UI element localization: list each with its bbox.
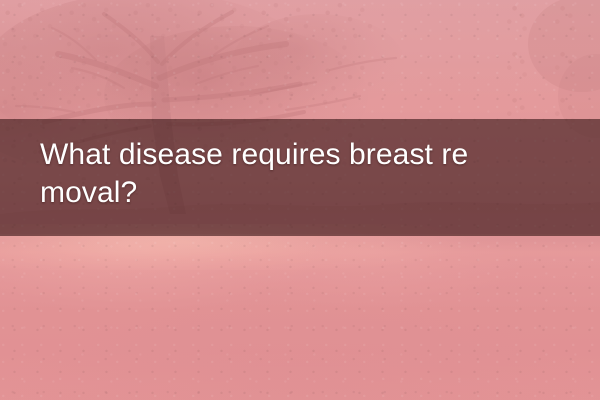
screenshot-canvas: What disease requires breast re moval? xyxy=(0,0,600,400)
caption-text: What disease requires breast re moval? xyxy=(40,136,580,212)
